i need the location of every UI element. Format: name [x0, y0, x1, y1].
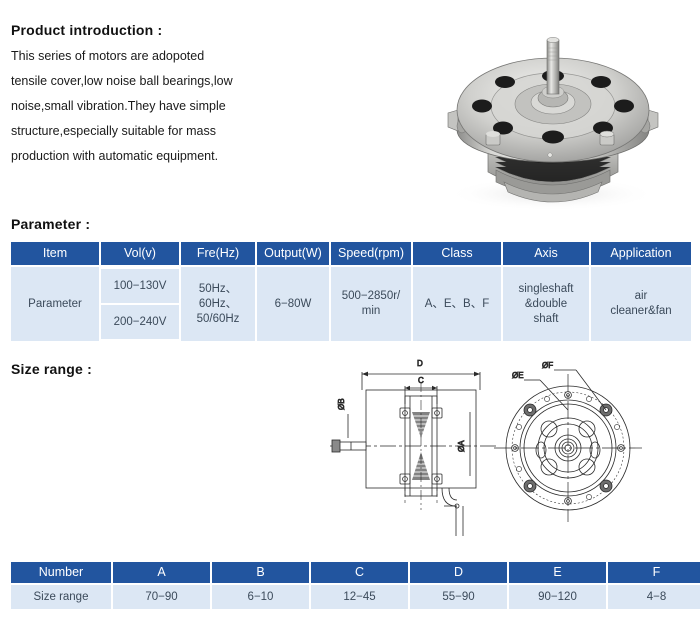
- param-frequency-line-1: 50Hz、60Hz、: [199, 283, 237, 310]
- size-header-e: E: [509, 562, 606, 583]
- param-application-line-2: cleaner&fan: [610, 305, 671, 317]
- param-header-application: Application: [591, 242, 691, 265]
- param-cell-voltage: 100−130V 200−240V: [101, 267, 179, 341]
- size-value-d: 55−90: [410, 585, 507, 609]
- size-value-c: 12−45: [311, 585, 408, 609]
- size-header-number: Number: [11, 562, 111, 583]
- param-cell-output: 6−80W: [257, 267, 329, 341]
- size-header-b: B: [212, 562, 309, 583]
- size-value-f: 4−8: [608, 585, 700, 609]
- param-header-item: Item: [11, 242, 99, 265]
- param-voltage-range-1: 100−130V: [101, 269, 179, 303]
- parameter-table-row: Parameter 100−130V 200−240V 50Hz、60Hz、 5…: [11, 267, 691, 341]
- size-table-row: Size range 70−90 6−10 12−45 55−90 90−120…: [11, 585, 700, 609]
- parameter-heading: Parameter :: [11, 216, 90, 232]
- intro-line-4: structure,especially suitable for mass: [11, 119, 311, 144]
- param-frequency-line-2: 50/60Hz: [197, 313, 240, 325]
- param-axis-line-2: &double: [525, 298, 567, 310]
- size-range-table: Number A B C D E F Size range 70−90 6−10…: [9, 560, 700, 611]
- dim-label-D: D: [417, 359, 423, 368]
- param-speed-line-2: min: [362, 305, 381, 317]
- size-value-b: 6−10: [212, 585, 309, 609]
- param-header-voltage: Vol(v): [101, 242, 179, 265]
- motor-product-photo: [400, 18, 700, 216]
- dim-label-A: ØA: [457, 440, 466, 452]
- param-header-speed: Speed(rpm): [331, 242, 411, 265]
- param-cell-item: Parameter: [11, 267, 99, 341]
- intro-line-3: noise,small vibration.They have simple: [11, 94, 311, 119]
- param-header-frequency: Fre(Hz): [181, 242, 255, 265]
- size-value-a: 70−90: [113, 585, 210, 609]
- param-cell-axis: singleshaft &double shaft: [503, 267, 589, 341]
- size-header-a: A: [113, 562, 210, 583]
- param-axis-line-1: singleshaft: [519, 283, 574, 295]
- parameter-table-header-row: Item Vol(v) Fre(Hz) Output(W) Speed(rpm)…: [11, 242, 691, 265]
- size-range-heading: Size range :: [11, 361, 92, 377]
- param-header-axis: Axis: [503, 242, 589, 265]
- param-cell-application: air cleaner&fan: [591, 267, 691, 341]
- param-speed-line-1: 500−2850r/: [342, 290, 401, 302]
- intro-line-1: This series of motors are adopoted: [11, 44, 311, 69]
- product-spec-page: Product introduction : This series of mo…: [0, 0, 700, 620]
- size-header-f: F: [608, 562, 700, 583]
- size-header-d: D: [410, 562, 507, 583]
- dim-label-F: ØF: [542, 361, 553, 370]
- technical-drawing: ØB ØA D C: [318, 352, 692, 548]
- param-voltage-range-2: 200−240V: [101, 305, 179, 339]
- product-introduction-text: This series of motors are adopoted tensi…: [11, 44, 311, 169]
- parameter-table: Item Vol(v) Fre(Hz) Output(W) Speed(rpm)…: [9, 240, 693, 343]
- intro-line-2: tensile cover,low noise ball bearings,lo…: [11, 69, 311, 94]
- param-header-output: Output(W): [257, 242, 329, 265]
- param-cell-speed: 500−2850r/ min: [331, 267, 411, 341]
- param-header-class: Class: [413, 242, 501, 265]
- size-row-label: Size range: [11, 585, 111, 609]
- param-application-line-1: air: [635, 290, 648, 302]
- size-value-e: 90−120: [509, 585, 606, 609]
- dim-label-C: C: [418, 376, 424, 385]
- dim-label-E: ØE: [512, 371, 524, 380]
- size-table-header-row: Number A B C D E F: [11, 562, 700, 583]
- param-cell-frequency: 50Hz、60Hz、 50/60Hz: [181, 267, 255, 341]
- intro-line-5: production with automatic equipment.: [11, 144, 311, 169]
- param-axis-line-3: shaft: [534, 313, 559, 325]
- size-header-c: C: [311, 562, 408, 583]
- dim-label-B: ØB: [337, 398, 346, 410]
- product-introduction-heading: Product introduction :: [11, 22, 162, 38]
- param-cell-class: A、E、B、F: [413, 267, 501, 341]
